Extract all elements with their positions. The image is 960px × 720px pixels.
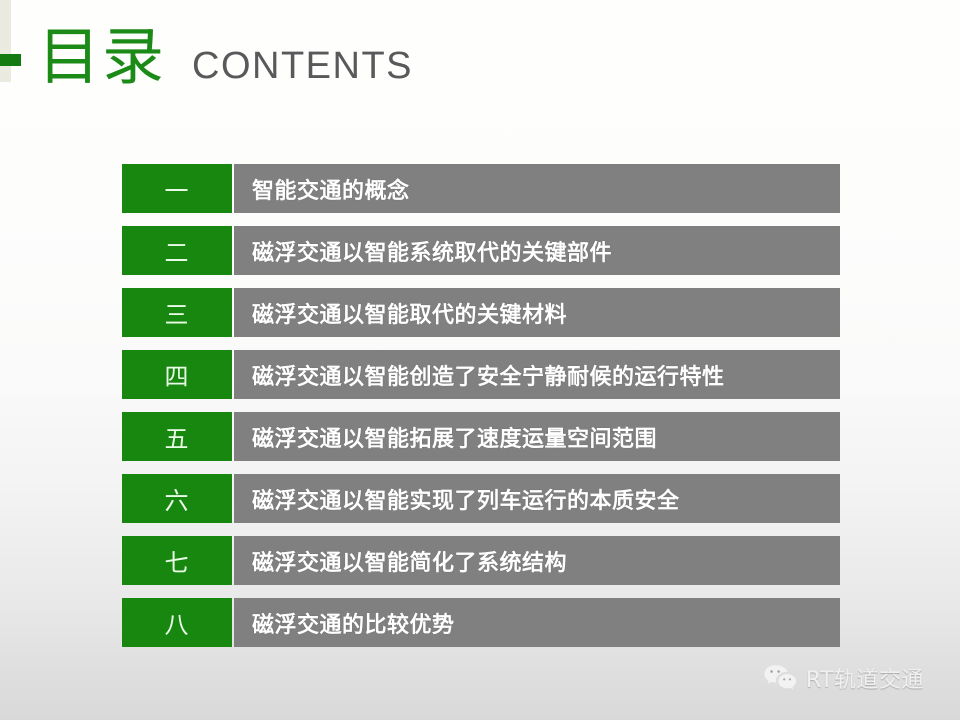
page-title-chinese: 目录 xyxy=(38,26,166,88)
watermark-label: RT轨道交通 xyxy=(806,662,924,694)
contents-row-label: 磁浮交通的比较优势 xyxy=(234,598,840,647)
contents-row[interactable]: 二磁浮交通以智能系统取代的关键部件 xyxy=(122,226,840,275)
contents-row-number: 四 xyxy=(122,350,232,399)
wechat-icon xyxy=(763,664,806,692)
contents-row[interactable]: 四磁浮交通以智能创造了安全宁静耐候的运行特性 xyxy=(122,350,840,399)
contents-row[interactable]: 五磁浮交通以智能拓展了速度运量空间范围 xyxy=(122,412,840,461)
contents-row-label: 磁浮交通以智能实现了列车运行的本质安全 xyxy=(234,474,840,523)
contents-row-number: 六 xyxy=(122,474,232,523)
contents-row[interactable]: 一智能交通的概念 xyxy=(122,164,840,213)
contents-row[interactable]: 六磁浮交通以智能实现了列车运行的本质安全 xyxy=(122,474,840,523)
contents-row[interactable]: 七磁浮交通以智能简化了系统结构 xyxy=(122,536,840,585)
contents-row-number: 八 xyxy=(122,598,232,647)
contents-row-label: 磁浮交通以智能拓展了速度运量空间范围 xyxy=(234,412,840,461)
left-edge-strip xyxy=(0,0,11,82)
contents-row-number: 二 xyxy=(122,226,232,275)
contents-row-label: 磁浮交通以智能取代的关键材料 xyxy=(234,288,840,337)
watermark: RT轨道交通 xyxy=(763,662,924,694)
contents-row[interactable]: 三磁浮交通以智能取代的关键材料 xyxy=(122,288,840,337)
contents-row-label: 智能交通的概念 xyxy=(234,164,840,213)
slide-canvas: 目录 CONTENTS 一智能交通的概念二磁浮交通以智能系统取代的关键部件三磁浮… xyxy=(0,0,960,720)
contents-row-number: 一 xyxy=(122,164,232,213)
left-edge-green-marker xyxy=(0,54,21,66)
contents-row-label: 磁浮交通以智能创造了安全宁静耐候的运行特性 xyxy=(234,350,840,399)
contents-row-number: 三 xyxy=(122,288,232,337)
slide-header: 目录 CONTENTS xyxy=(38,26,413,88)
contents-row-label: 磁浮交通以智能简化了系统结构 xyxy=(234,536,840,585)
contents-list: 一智能交通的概念二磁浮交通以智能系统取代的关键部件三磁浮交通以智能取代的关键材料… xyxy=(122,164,840,647)
page-title-english: CONTENTS xyxy=(192,47,413,85)
contents-row-number: 七 xyxy=(122,536,232,585)
contents-row-label: 磁浮交通以智能系统取代的关键部件 xyxy=(234,226,840,275)
contents-row[interactable]: 八磁浮交通的比较优势 xyxy=(122,598,840,647)
contents-row-number: 五 xyxy=(122,412,232,461)
